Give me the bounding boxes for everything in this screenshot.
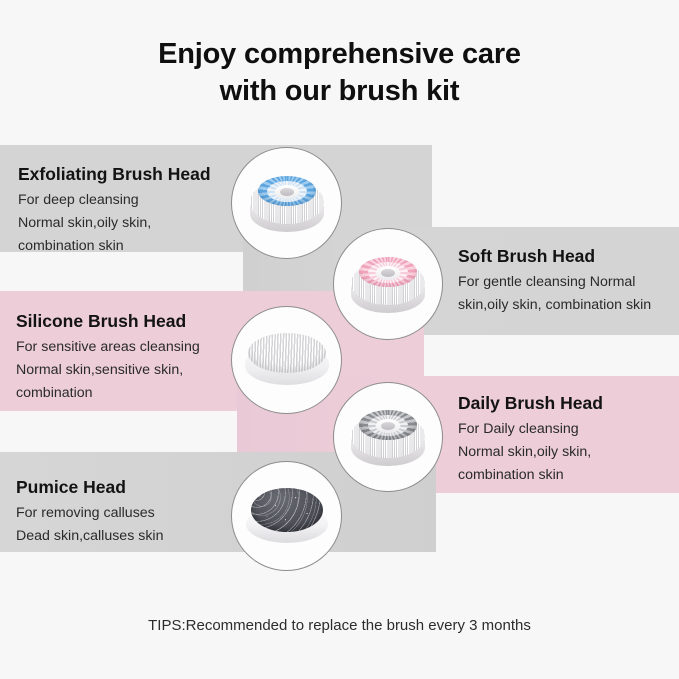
item-line-daily-1: For Daily cleansing — [458, 418, 603, 441]
item-line-soft-1: For gentle cleansing Normal — [458, 271, 651, 294]
item-line-silicone-2: Normal skin,sensitive skin, — [16, 359, 200, 382]
item-line-pumice-2: Dead skin,calluses skin — [16, 525, 163, 548]
item-line-soft-2: skin,oily skin, combination skin — [458, 294, 651, 317]
item-text-silicone: Silicone Brush Head For sensitive areas … — [16, 311, 200, 405]
silicone-brush-illustration — [232, 307, 341, 413]
item-heading-pumice: Pumice Head — [16, 477, 163, 499]
product-image-exfoliating-brush-head — [231, 147, 342, 259]
item-text-soft: Soft Brush Head For gentle cleansing Nor… — [458, 246, 651, 317]
item-line-silicone-1: For sensitive areas cleansing — [16, 336, 200, 359]
item-text-daily: Daily Brush Head For Daily cleansing Nor… — [458, 393, 603, 487]
page-title: Enjoy comprehensive care with our brush … — [0, 36, 679, 110]
pumice-stone-illustration — [232, 462, 341, 570]
item-line-exfoliating-1: For deep cleansing — [18, 189, 211, 212]
soft-brush-illustration — [334, 229, 442, 339]
item-text-exfoliating: Exfoliating Brush Head For deep cleansin… — [18, 164, 211, 258]
brush-icon — [245, 331, 329, 389]
item-line-exfoliating-3: combination skin — [18, 235, 211, 258]
item-line-exfoliating-2: Normal skin,oily skin, — [18, 212, 211, 235]
page-title-line-1: Enjoy comprehensive care — [0, 36, 679, 73]
item-heading-soft: Soft Brush Head — [458, 246, 651, 268]
product-image-pumice-head — [231, 461, 342, 571]
product-image-silicone-brush-head — [231, 306, 342, 414]
item-line-pumice-1: For removing calluses — [16, 502, 163, 525]
daily-brush-illustration — [334, 383, 442, 491]
item-line-daily-2: Normal skin,oily skin, — [458, 441, 603, 464]
exfoliating-brush-illustration — [232, 148, 341, 258]
item-text-pumice: Pumice Head For removing calluses Dead s… — [16, 477, 163, 548]
product-image-soft-brush-head — [333, 228, 443, 340]
item-line-silicone-3: combination — [16, 382, 200, 405]
item-heading-silicone: Silicone Brush Head — [16, 311, 200, 333]
brush-icon — [248, 172, 326, 234]
product-image-daily-brush-head — [333, 382, 443, 492]
item-heading-exfoliating: Exfoliating Brush Head — [18, 164, 211, 186]
page-title-line-2: with our brush kit — [0, 73, 679, 110]
brush-icon — [349, 253, 427, 315]
pumice-icon — [246, 487, 328, 545]
tips-note: TIPS:Recommended to replace the brush ev… — [0, 617, 679, 634]
item-line-daily-3: combination skin — [458, 464, 603, 487]
brush-icon — [349, 406, 427, 468]
item-heading-daily: Daily Brush Head — [458, 393, 603, 415]
